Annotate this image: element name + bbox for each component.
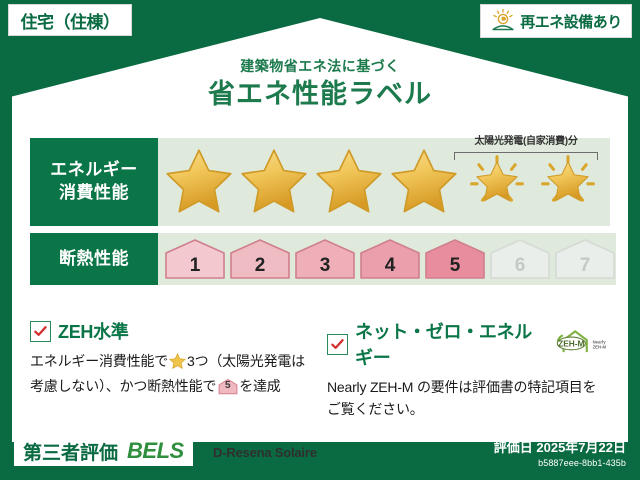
net-zero-energy-note: ネット・ゼロ・エネルギー ZEH-M Nearly ZEH-M Nearly Z… [327, 318, 610, 420]
label-heading: 建築物省エネ法に基づく 省エネ性能ラベル [0, 58, 640, 112]
insulation-step-number: 6 [489, 255, 551, 277]
insulation-step-number: 5 [424, 255, 486, 277]
star-filled [237, 140, 311, 224]
insulation-step: 5 [424, 238, 486, 280]
building-type-label: 住宅（住棟） [21, 8, 120, 33]
insulation-step-number: 3 [294, 255, 356, 277]
insulation-step: 3 [294, 238, 356, 280]
star-filled [387, 140, 461, 224]
building-name: D-Resena Solaire [213, 445, 317, 460]
star-filled [162, 140, 236, 224]
energy-row-header-line1: エネルギー [50, 159, 138, 182]
net-zero-body: Nearly ZEH-M の要件は評価書の特記項目をご覧ください。 [327, 377, 610, 420]
energy-row-body: 太陽光発電(自家消費)分 [158, 138, 610, 226]
insulation-step-number: 7 [554, 255, 616, 277]
zeh-body-part1: エネルギー消費性能で [30, 353, 168, 369]
insulation-step: 1 [164, 238, 226, 280]
heading-subtitle: 建築物省エネ法に基づく [0, 58, 640, 75]
inline-insulation-grade-badge: 5 [218, 378, 237, 394]
insulation-row-header-text: 断熱性能 [59, 248, 129, 271]
heading-title: 省エネ性能ラベル [0, 78, 640, 112]
svg-text:ZEH-M: ZEH-M [593, 344, 607, 349]
insulation-step-number: 1 [164, 255, 226, 277]
zeh-body-part3: を達成 [239, 378, 280, 394]
evaluation-date: 評価日 2025年7月22日 [494, 437, 626, 456]
label-footer: 第三者評価 BELS D-Resena Solaire 評価日 2025年7月2… [0, 426, 640, 480]
inline-badge-number: 5 [218, 378, 237, 394]
performance-rows: エネルギー 消費性能 太陽光発電(自家消費)分 断熱性能 1234567 [30, 138, 610, 292]
zeh-standard-note: ZEH水準 エネルギー消費性能で3つ（太陽光発電は考慮しない）、かつ断熱性能で5… [30, 318, 313, 420]
energy-row-header-line2: 消費性能 [59, 182, 129, 205]
energy-star-rating [158, 140, 610, 224]
zeh-checkbox-checked-icon [30, 321, 51, 342]
bels-jp-label: 第三者評価 [23, 438, 118, 465]
renewable-equipment-label: 再エネ設備あり [520, 11, 622, 32]
zeh-m-logo-icon: ZEH-M Nearly ZEH-M [550, 327, 610, 361]
insulation-step-number: 4 [359, 255, 421, 277]
net-zero-title-row: ネット・ゼロ・エネルギー ZEH-M Nearly ZEH-M [327, 318, 610, 370]
insulation-step: 6 [489, 238, 551, 280]
building-type-badge: 住宅（住棟） [8, 4, 132, 36]
insulation-step: 7 [554, 238, 616, 280]
bels-en-label: BELS [127, 438, 184, 464]
energy-performance-label: 住宅（住棟） 再エネ設備あり 建築物省エネ法に基づく 省エネ性能ラベル [0, 0, 640, 480]
solar-sun-icon [490, 8, 516, 34]
insulation-step-number: 2 [229, 255, 291, 277]
insulation-performance-row: 断熱性能 1234567 [30, 233, 610, 285]
insulation-step: 4 [359, 238, 421, 280]
evaluation-meta: 評価日 2025年7月22日 b5887eee-8bb1-435b [494, 437, 626, 468]
evaluation-uid: b5887eee-8bb1-435b [494, 458, 626, 468]
star-filled [312, 140, 386, 224]
bels-badge: 第三者評価 BELS [14, 436, 193, 466]
svg-text:ZEH-M: ZEH-M [558, 338, 584, 348]
insulation-row-header: 断熱性能 [30, 233, 158, 285]
inline-star-icon [169, 353, 186, 376]
net-zero-title: ネット・ゼロ・エネルギー [355, 318, 539, 370]
certification-notes: ZEH水準 エネルギー消費性能で3つ（太陽光発電は考慮しない）、かつ断熱性能で5… [30, 318, 610, 420]
star-solar [533, 140, 603, 224]
renewable-equipment-badge: 再エネ設備あり [480, 4, 632, 38]
net-zero-checkbox-checked-icon [327, 334, 348, 355]
energy-performance-row: エネルギー 消費性能 太陽光発電(自家消費)分 [30, 138, 610, 226]
zeh-standard-body: エネルギー消費性能で3つ（太陽光発電は考慮しない）、かつ断熱性能で5を達成 [30, 351, 313, 397]
insulation-step: 2 [229, 238, 291, 280]
zeh-standard-title: ZEH水準 [58, 318, 129, 344]
energy-row-header: エネルギー 消費性能 [30, 138, 158, 226]
zeh-standard-title-row: ZEH水準 [30, 318, 313, 344]
insulation-row-body: 1234567 [158, 233, 616, 285]
insulation-scale: 1234567 [158, 238, 616, 280]
star-solar [462, 140, 532, 224]
